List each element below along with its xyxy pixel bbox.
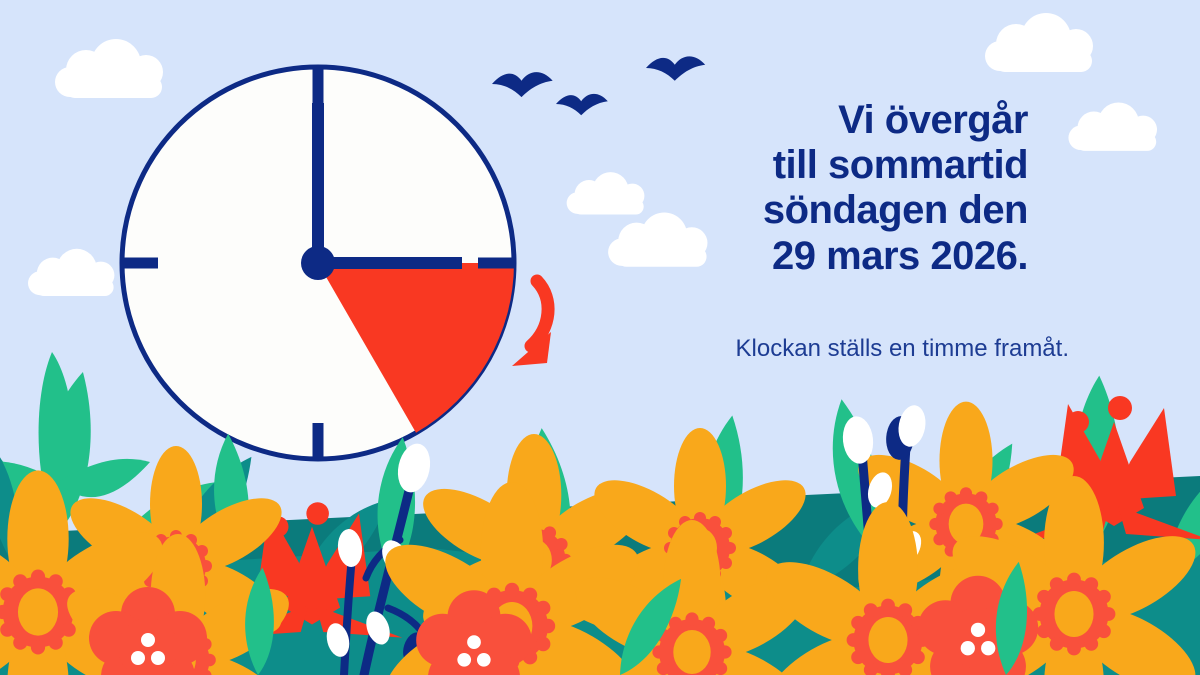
illustration-canvas: Vi övergår till sommartid söndagen den 2… — [0, 0, 1200, 675]
clock-center-pin — [301, 246, 335, 280]
clock — [122, 67, 514, 459]
spring-scene-illustration — [0, 0, 1200, 675]
